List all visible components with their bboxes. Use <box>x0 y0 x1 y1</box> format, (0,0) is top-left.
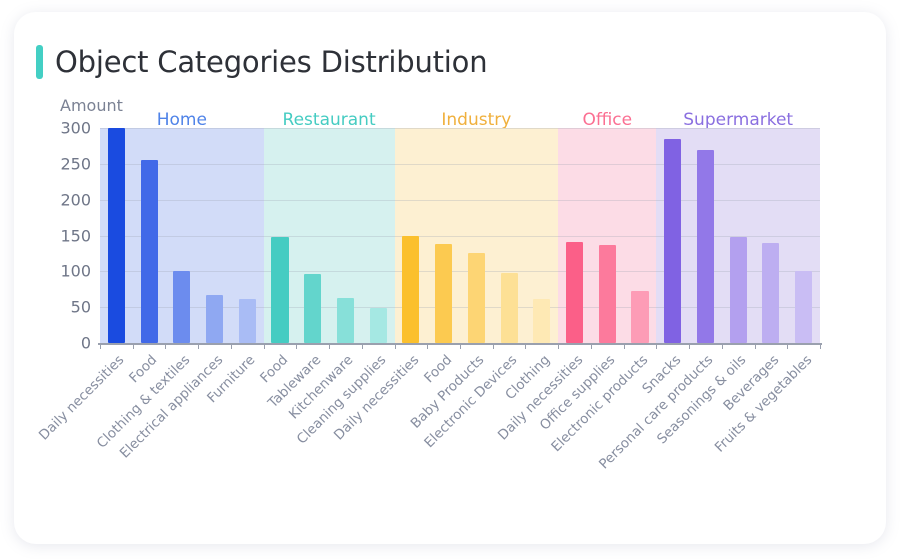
y-axis-tick-label: 0 <box>81 334 91 353</box>
y-axis-tick-label: 200 <box>60 190 91 209</box>
bar <box>631 291 648 343</box>
plot-wrapper: Amount HomeRestaurantIndustryOfficeSuper… <box>14 12 886 544</box>
chart-card: Object Categories Distribution Amount Ho… <box>14 12 886 544</box>
x-axis-tick <box>689 343 690 349</box>
bar <box>697 150 714 344</box>
bar <box>795 271 812 343</box>
x-axis-tick <box>133 343 134 349</box>
bar <box>370 308 387 343</box>
bar <box>141 160 158 343</box>
x-axis-tick <box>264 343 265 349</box>
x-axis-tick <box>624 343 625 349</box>
bar <box>566 242 583 343</box>
bar <box>402 236 419 344</box>
bar <box>239 299 256 343</box>
x-axis-tick <box>493 343 494 349</box>
bar <box>173 271 190 343</box>
x-axis-tick <box>787 343 788 349</box>
bar <box>206 295 223 343</box>
x-axis-tick <box>427 343 428 349</box>
x-axis-tick <box>198 343 199 349</box>
x-axis-tick <box>656 343 657 349</box>
bar <box>271 237 288 343</box>
x-axis-tick <box>231 343 232 349</box>
bar <box>501 273 518 343</box>
bar <box>435 244 452 343</box>
bar <box>533 299 550 343</box>
x-axis-tick <box>558 343 559 349</box>
group-label-office: Office <box>582 110 632 130</box>
x-axis-tick <box>100 343 101 349</box>
y-axis-tick-label: 150 <box>60 226 91 245</box>
y-axis-tick-label: 300 <box>60 119 91 138</box>
x-axis-tick <box>395 343 396 349</box>
x-axis-tick <box>362 343 363 349</box>
bar <box>337 298 354 343</box>
x-axis-tick <box>329 343 330 349</box>
x-axis-tick <box>755 343 756 349</box>
y-axis-title: Amount <box>60 96 123 115</box>
x-axis-tick <box>722 343 723 349</box>
bar <box>762 243 779 343</box>
x-axis-tick <box>591 343 592 349</box>
bar <box>599 245 616 343</box>
x-axis-tick <box>820 343 821 349</box>
group-label-industry: Industry <box>441 110 511 130</box>
group-label-restaurant: Restaurant <box>283 110 376 130</box>
y-axis-tick-label: 50 <box>71 298 91 317</box>
bar <box>730 237 747 343</box>
bar <box>664 139 681 343</box>
group-label-home: Home <box>157 110 207 130</box>
x-axis-tick <box>165 343 166 349</box>
gridline <box>100 128 820 129</box>
plot-area: 050100150200250300Daily necessitiesFoodC… <box>100 128 820 343</box>
bar <box>108 128 125 343</box>
x-axis-tick <box>525 343 526 349</box>
x-axis-tick <box>460 343 461 349</box>
group-label-supermarket: Supermarket <box>683 110 793 130</box>
x-axis-tick <box>296 343 297 349</box>
y-axis-tick-label: 100 <box>60 262 91 281</box>
y-axis-tick-label: 250 <box>60 154 91 173</box>
bar <box>468 253 485 343</box>
bar <box>304 274 321 343</box>
